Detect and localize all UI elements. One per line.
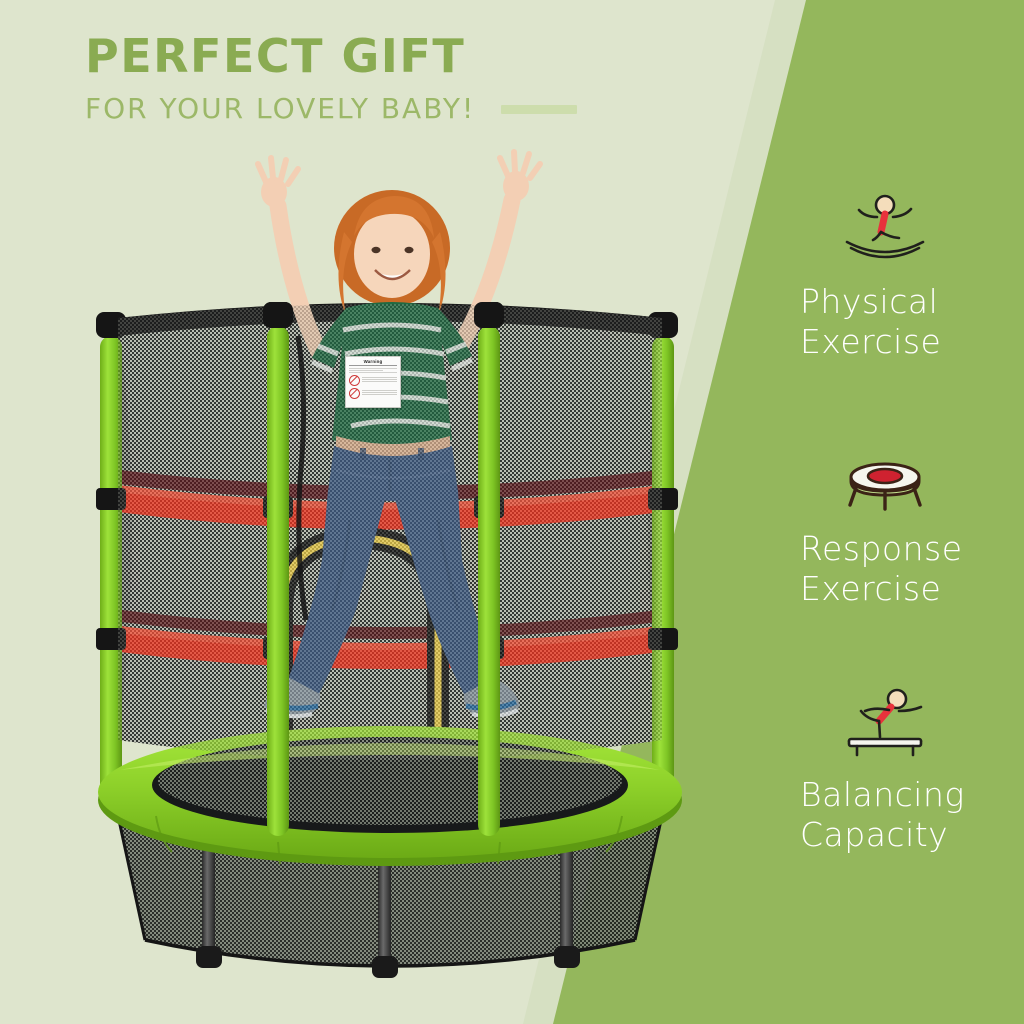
feature-label-physical-exercise: Physical Exercise <box>800 282 1024 363</box>
warning-text-block <box>362 390 397 396</box>
feature-label-line1: Response <box>800 529 1024 569</box>
product-image: ——— <box>60 140 720 1010</box>
headline-block: PERFECT GIFT FOR YOUR LOVELY BABY! <box>85 32 705 125</box>
feature-label-line1: Physical <box>800 282 1024 322</box>
no-entry-icon <box>349 388 360 399</box>
feature-item-physical-exercise: Physical Exercise <box>800 190 1024 363</box>
feature-label-line2: Exercise <box>800 322 1024 362</box>
feature-label-response-exercise: Response Exercise <box>800 529 1024 610</box>
feature-list: Physical Exercise Response <box>800 190 1024 930</box>
feature-label-line1: Balancing <box>800 775 1024 815</box>
feature-item-balancing-capacity: Balancing Capacity <box>800 683 1024 856</box>
warning-text-line <box>349 372 397 373</box>
feature-label-line2: Exercise <box>800 569 1024 609</box>
page-title: PERFECT GIFT <box>85 32 705 80</box>
feature-label-line2: Capacity <box>800 815 1024 855</box>
subheadline-row: FOR YOUR LOVELY BABY! <box>85 94 705 125</box>
page-subtitle: FOR YOUR LOVELY BABY! <box>85 94 475 125</box>
headline-divider <box>501 105 577 114</box>
warning-prohibition-row <box>349 388 397 399</box>
mini-trampoline-icon <box>810 437 960 515</box>
person-balancing-on-beam-icon <box>810 683 960 761</box>
warning-text-block <box>362 377 397 383</box>
feature-item-response-exercise: Response Exercise <box>800 437 1024 610</box>
person-bouncing-on-trampoline-icon <box>810 190 960 268</box>
warning-text-line <box>349 370 383 371</box>
warning-label: Warning <box>345 356 401 408</box>
warning-prohibition-row <box>349 375 397 386</box>
warning-label-title: Warning <box>349 359 397 366</box>
feature-label-balancing-capacity: Balancing Capacity <box>800 775 1024 856</box>
no-entry-icon <box>349 375 360 386</box>
product-banner: PERFECT GIFT FOR YOUR LOVELY BABY! <box>0 0 1024 1024</box>
warning-text-line <box>349 368 397 369</box>
